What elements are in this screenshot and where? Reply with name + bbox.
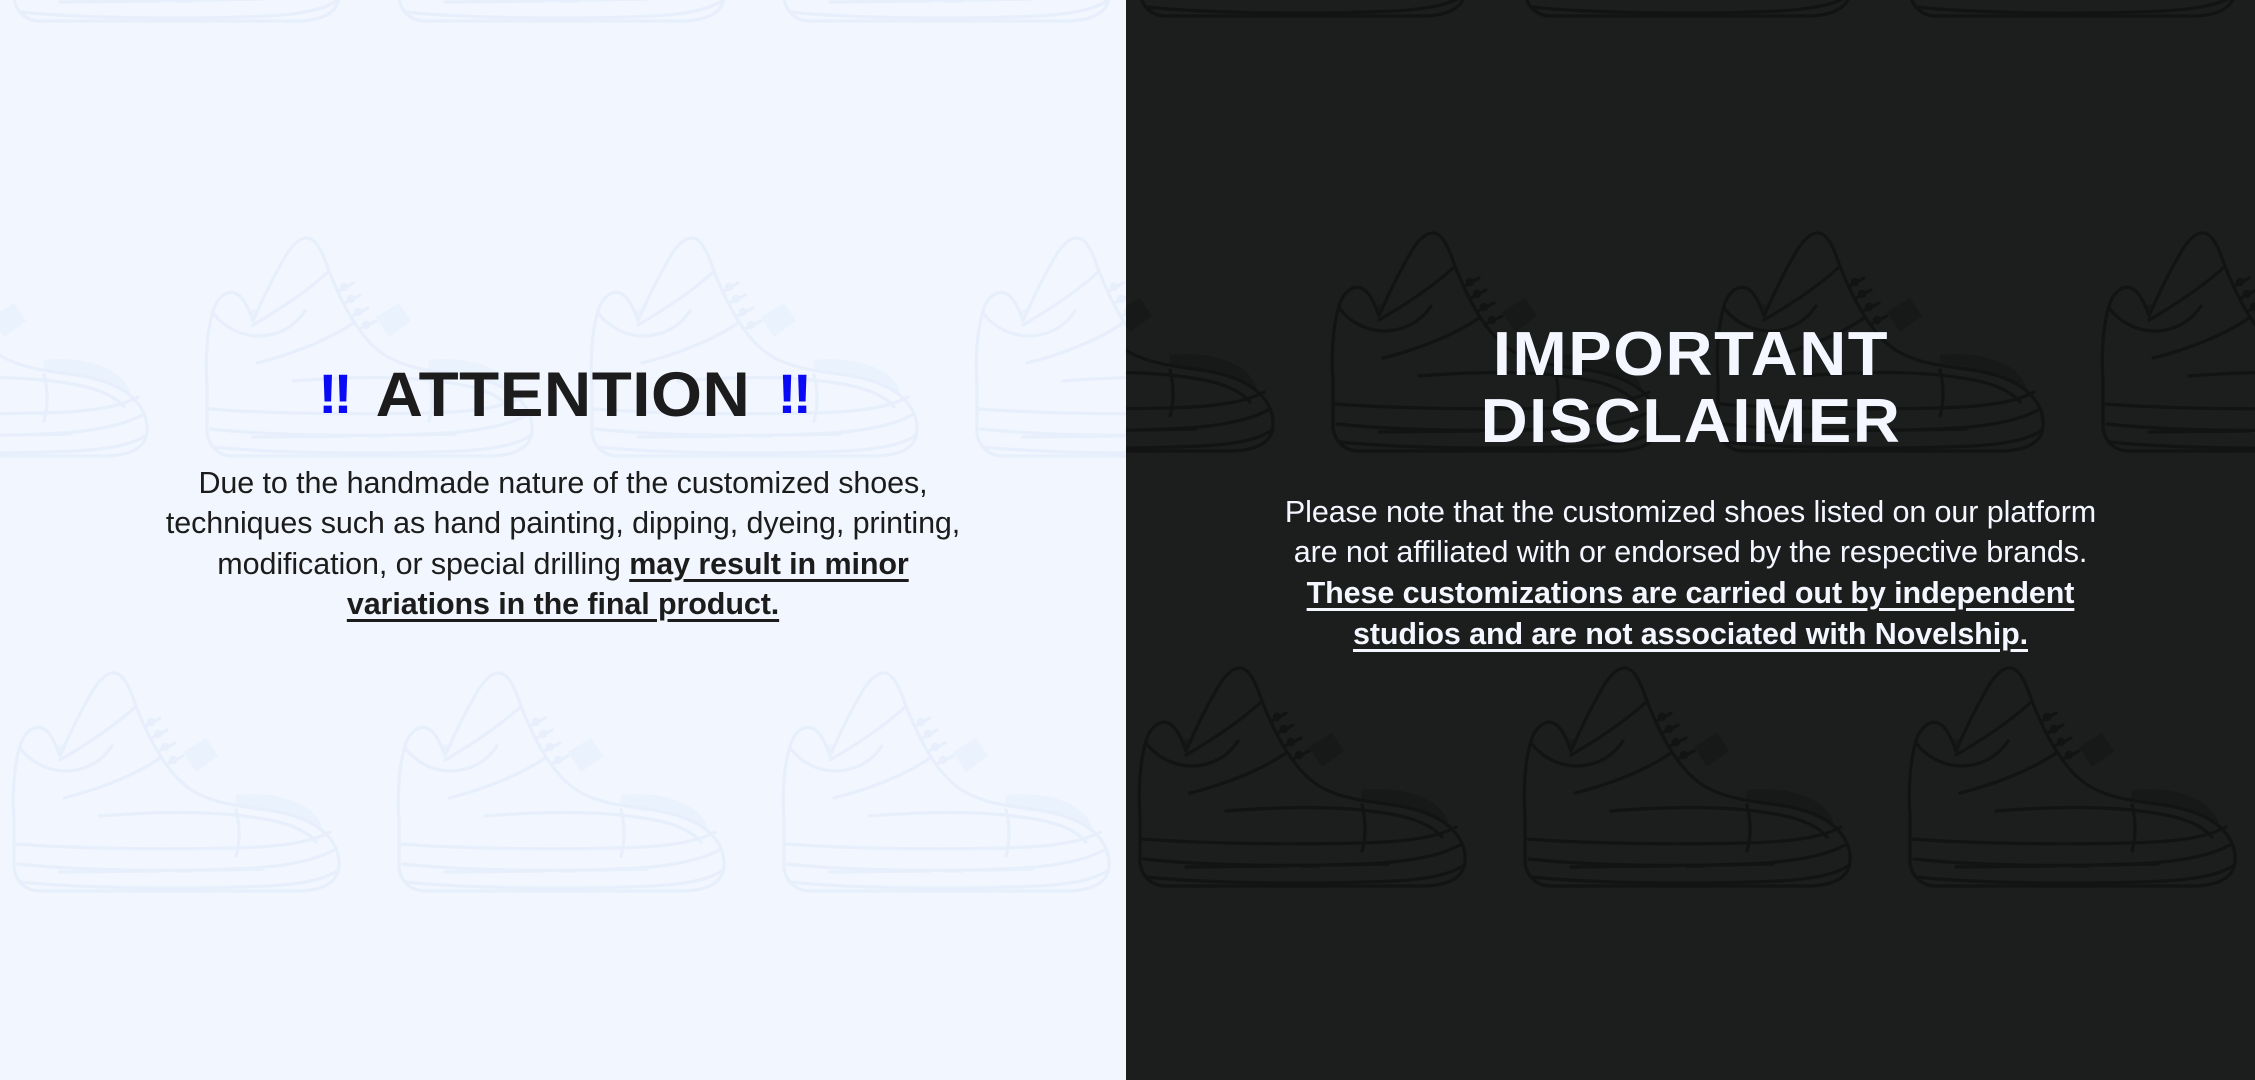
sneaker-icon (1511, 0, 1896, 45)
sneaker-pattern-row (1126, 0, 2255, 45)
sneaker-pattern-row (0, 0, 1126, 50)
disclaimer-heading: IMPORTANT DISCLAIMER (1250, 322, 2132, 456)
sneaker-icon (385, 620, 770, 920)
attention-heading-word: ATTENTION (376, 362, 751, 429)
sneaker-icon (963, 1055, 1126, 1080)
disclaimer-body-emphasis: These customizations are carried out by … (1307, 576, 2075, 651)
disclaimer-heading-line-2: DISCLAIMER (1250, 389, 2132, 456)
split-notice-banner: !! ATTENTION !! Due to the handmade natu… (0, 0, 2255, 1080)
disclaimer-heading-line-1: IMPORTANT (1250, 322, 2132, 389)
sneaker-icon (2089, 1050, 2255, 1080)
sneaker-icon (385, 0, 770, 50)
disclaimer-body-text: Please note that the customized shoes li… (1271, 492, 2111, 654)
sneaker-icon (0, 620, 385, 920)
sneaker-icon (770, 620, 1126, 920)
sneaker-icon (1511, 615, 1896, 915)
sneaker-icon (1896, 0, 2255, 45)
sneaker-icon (0, 1055, 193, 1080)
sneaker-icon (193, 1055, 578, 1080)
sneaker-icon (1126, 1050, 1319, 1080)
attention-body-text: Due to the handmade nature of the custom… (138, 463, 988, 625)
double-exclamation-icon-left: !! (318, 364, 348, 423)
disclaimer-content: IMPORTANT DISCLAIMER Please note that th… (1271, 322, 2111, 654)
sneaker-icon (770, 0, 1126, 50)
double-exclamation-icon-right: !! (777, 364, 807, 423)
attention-panel: !! ATTENTION !! Due to the handmade natu… (0, 0, 1126, 1080)
sneaker-icon (1896, 615, 2255, 915)
attention-content: !! ATTENTION !! Due to the handmade natu… (138, 362, 988, 625)
disclaimer-body-normal: Please note that the customized shoes li… (1285, 495, 2096, 570)
sneaker-pattern-row (1126, 1050, 2255, 1080)
attention-heading: !! ATTENTION !! (121, 362, 1005, 429)
sneaker-icon (578, 1055, 963, 1080)
disclaimer-panel: IMPORTANT DISCLAIMER Please note that th… (1126, 0, 2255, 1080)
sneaker-icon (0, 0, 385, 50)
sneaker-icon (1126, 615, 1511, 915)
sneaker-icon (1704, 1050, 2089, 1080)
sneaker-icon (1126, 0, 1511, 45)
sneaker-pattern-row (0, 1055, 1126, 1080)
sneaker-icon (1319, 1050, 1704, 1080)
sneaker-pattern-row (1126, 615, 2255, 915)
sneaker-pattern-row (0, 620, 1126, 920)
